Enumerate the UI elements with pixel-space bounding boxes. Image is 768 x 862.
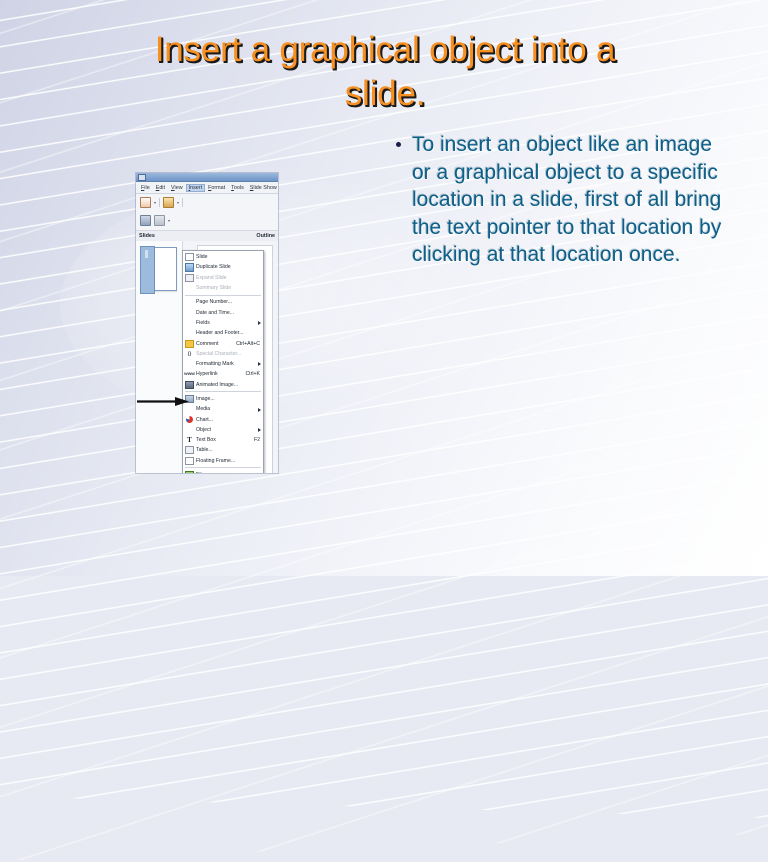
tab-slides[interactable]: Slides <box>139 233 155 239</box>
menu-item-header-and-footer[interactable]: Header and Footer... <box>183 328 263 338</box>
menu-item-duplicate-slide[interactable]: Duplicate Slide <box>183 262 263 272</box>
annotation-arrow-icon <box>137 397 189 406</box>
menu-item-no-icon <box>185 298 194 306</box>
special-character-icon: {} <box>185 350 194 358</box>
menubar-item-format[interactable]: Format <box>205 184 228 192</box>
menu-item-label: Slide <box>196 254 263 260</box>
bullet-text: To insert an object like an image or a g… <box>412 131 726 269</box>
menu-item-formatting-mark[interactable]: Formatting Mark <box>183 359 263 369</box>
expand-slide-icon <box>185 274 194 282</box>
menu-item-label: Date and Time... <box>196 310 263 316</box>
menu-item-label: File... <box>196 472 263 473</box>
hyperlink-icon: www <box>185 370 194 378</box>
toolbar-separator <box>182 198 183 207</box>
toolbar-separator <box>159 198 160 207</box>
menu-item-no-icon <box>185 319 194 327</box>
menu-item-file[interactable]: File... <box>183 470 263 473</box>
menu-item-label: Floating Frame... <box>196 458 263 464</box>
slides-panel[interactable] <box>136 241 183 473</box>
chevron-down-icon[interactable]: ▾ <box>154 200 156 205</box>
slide-icon <box>185 253 194 261</box>
menu-item-image[interactable]: Image... <box>183 394 263 404</box>
menu-item-label: Summary Slide <box>196 285 263 291</box>
master-slide-icon[interactable] <box>154 215 165 226</box>
duplicate-slide-icon <box>185 263 194 271</box>
menu-item-no-icon <box>185 329 194 337</box>
menu-item-page-number[interactable]: Page Number... <box>183 297 263 307</box>
menu-item-media[interactable]: Media <box>183 404 263 414</box>
bullet-dot-icon <box>396 142 401 147</box>
insert-menu-dropdown[interactable]: SlideDuplicate SlideExpand SlideSummary … <box>182 250 264 473</box>
menu-item-object[interactable]: Object <box>183 425 263 435</box>
menu-item-slide[interactable]: Slide <box>183 252 263 262</box>
new-presentation-icon[interactable] <box>140 197 151 208</box>
menu-bar[interactable]: FileEditViewInsertFormatToolsSlide ShowW <box>136 182 278 194</box>
menu-item-shortcut: F2 <box>254 437 263 443</box>
toolbar-row-2[interactable]: ▾ <box>138 213 276 228</box>
menu-item-summary-slide: Summary Slide <box>183 283 263 293</box>
submenu-arrow-icon <box>258 321 261 325</box>
menubar-item-insert[interactable]: Insert <box>186 184 205 192</box>
menu-item-label: Header and Footer... <box>196 330 263 336</box>
menu-item-hyperlink[interactable]: wwwHyperlinkCtrl+K <box>183 369 263 379</box>
chart-icon <box>185 416 194 424</box>
submenu-arrow-icon <box>258 362 261 366</box>
chevron-down-icon[interactable]: ▾ <box>177 200 179 205</box>
menu-item-label: Text Box <box>196 437 254 443</box>
menu-item-chart[interactable]: Chart... <box>183 414 263 424</box>
menu-item-shortcut: Ctrl+K <box>245 371 263 377</box>
open-file-icon[interactable] <box>163 197 174 208</box>
slide-body: To insert an object like an image or a g… <box>396 131 726 269</box>
menu-item-label: Comment <box>196 341 236 347</box>
table-icon <box>185 446 194 454</box>
menu-item-label: Object <box>196 427 263 433</box>
menu-item-date-and-time[interactable]: Date and Time... <box>183 307 263 317</box>
menu-item-label: Fields <box>196 320 263 326</box>
floating-frame-icon <box>185 457 194 465</box>
slide-thumbnail-selection <box>140 246 155 294</box>
menu-item-no-icon <box>185 309 194 317</box>
app-icon <box>138 174 146 181</box>
submenu-arrow-icon <box>258 428 261 432</box>
menu-separator <box>185 295 261 296</box>
menu-item-label: Formatting Mark <box>196 361 263 367</box>
menu-item-label: Image... <box>196 396 263 402</box>
menu-item-no-icon <box>185 360 194 368</box>
slide-thumbnail[interactable] <box>141 247 177 291</box>
menu-item-fields[interactable]: Fields <box>183 318 263 328</box>
menu-item-label: Page Number... <box>196 299 263 305</box>
page-title: Insert a graphical object into a slide. <box>40 28 730 116</box>
menu-separator <box>185 467 261 468</box>
window-titlebar <box>136 173 278 182</box>
chevron-down-icon[interactable]: ▾ <box>168 218 170 223</box>
menu-item-no-icon <box>185 426 194 434</box>
menubar-item-edit[interactable]: Edit <box>153 184 168 192</box>
menubar-item-slide-show[interactable]: Slide Show <box>247 184 278 192</box>
toolbar-area: ▾ ▾ ▾ <box>136 194 278 231</box>
menu-separator <box>185 391 261 392</box>
menu-item-special-character: {}Special Character... <box>183 349 263 359</box>
menu-item-animated-image[interactable]: Animated Image... <box>183 380 263 390</box>
list-item: To insert an object like an image or a g… <box>396 131 726 269</box>
menu-item-label: Table... <box>196 447 263 453</box>
file-icon <box>185 471 194 473</box>
menubar-item-tools[interactable]: Tools <box>228 184 247 192</box>
embedded-impress-screenshot: FileEditViewInsertFormatToolsSlide ShowW… <box>136 173 278 473</box>
animated-image-icon <box>185 381 194 389</box>
work-area: Slides Outline SlideDuplicate SlideExpan… <box>136 231 278 473</box>
menu-item-label: Expand Slide <box>196 275 263 281</box>
menu-item-floating-frame[interactable]: Floating Frame... <box>183 456 263 466</box>
menu-item-no-icon <box>185 405 194 413</box>
menubar-item-view[interactable]: View <box>168 184 186 192</box>
menubar-item-file[interactable]: File <box>138 184 153 192</box>
menu-item-comment[interactable]: CommentCtrl+Alt+C <box>183 338 263 348</box>
menu-item-label: Media <box>196 406 263 412</box>
comment-icon <box>185 340 194 348</box>
menu-item-label: Chart... <box>196 417 263 423</box>
submenu-arrow-icon <box>258 408 261 412</box>
tab-outline[interactable]: Outline <box>256 233 275 239</box>
menu-item-label: Special Character... <box>196 351 263 357</box>
text-box-icon: T <box>185 436 194 444</box>
menu-item-table[interactable]: Table... <box>183 445 263 455</box>
menu-item-label: Hyperlink <box>196 371 245 377</box>
display-views-icon[interactable] <box>140 215 151 226</box>
menu-item-expand-slide: Expand Slide <box>183 273 263 283</box>
background-wave-lines-secondary <box>0 0 768 862</box>
menu-item-label: Duplicate Slide <box>196 264 263 270</box>
menu-item-text-box[interactable]: TText BoxF2 <box>183 435 263 445</box>
menu-item-shortcut: Ctrl+Alt+C <box>236 341 263 347</box>
menu-item-label: Animated Image... <box>196 382 263 388</box>
toolbar-row-1[interactable]: ▾ ▾ <box>138 195 276 210</box>
menu-item-no-icon <box>185 284 194 292</box>
